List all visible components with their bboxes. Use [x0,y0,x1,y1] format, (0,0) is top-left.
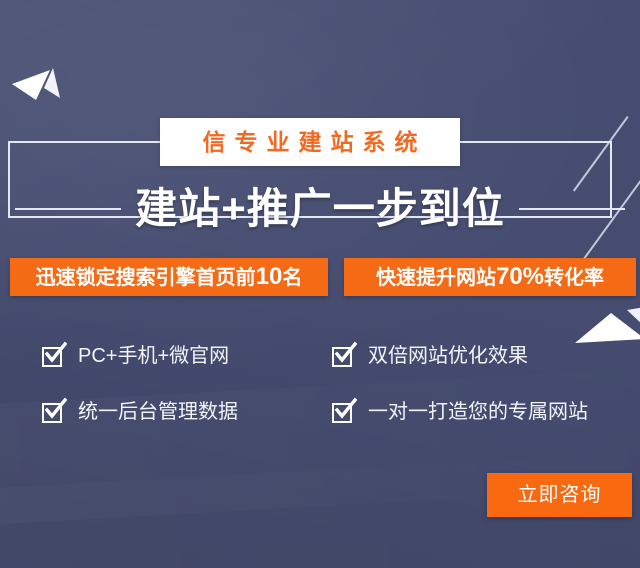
headline-rule-right [519,208,625,210]
checkbox-checked-icon [332,345,354,367]
feature-row: PC+手机+微官网 双倍网站优化效果 [42,328,640,384]
checkbox-checked-icon [332,401,354,423]
sub-banner-1-label: 迅速锁定搜索引擎首页前10名 [36,265,303,289]
consult-now-button[interactable]: 立即咨询 [487,473,632,517]
feature-label: PC+手机+微官网 [78,346,229,366]
checkbox-checked-icon [42,345,64,367]
feature-label: 统一后台管理数据 [78,402,238,422]
paper-plane-icon-top-left [12,60,70,108]
feature-item-2: 双倍网站优化效果 [332,345,632,367]
feature-row: 统一后台管理数据 一对一打造您的专属网站 [42,384,640,440]
sub-banner-1: 迅速锁定搜索引擎首页前10名 [10,258,328,296]
feature-label: 双倍网站优化效果 [368,346,528,366]
badge-label: 信专业建站系统 [194,131,427,154]
badge: 信专业建站系统 [160,118,460,166]
sub-banner-2: 快速提升网站70%转化率 [344,258,636,296]
feature-label: 一对一打造您的专属网站 [368,402,588,422]
feature-list: PC+手机+微官网 双倍网站优化效果 [42,328,640,440]
consult-now-label: 立即咨询 [518,485,602,505]
sub-banner-2-label: 快速提升网站70%转化率 [376,265,604,289]
page-title: 建站+推广一步到位 [135,188,505,230]
promo-banner: 信专业建站系统 建站+推广一步到位 迅速锁定搜索引擎首页前10名 快速提升网站7… [0,0,640,568]
feature-item-3: 统一后台管理数据 [42,401,332,423]
headline-rule-left [15,208,121,210]
feature-item-1: PC+手机+微官网 [42,345,332,367]
feature-item-4: 一对一打造您的专属网站 [332,401,632,423]
checkbox-checked-icon [42,401,64,423]
headline-row: 建站+推广一步到位 [0,180,640,238]
